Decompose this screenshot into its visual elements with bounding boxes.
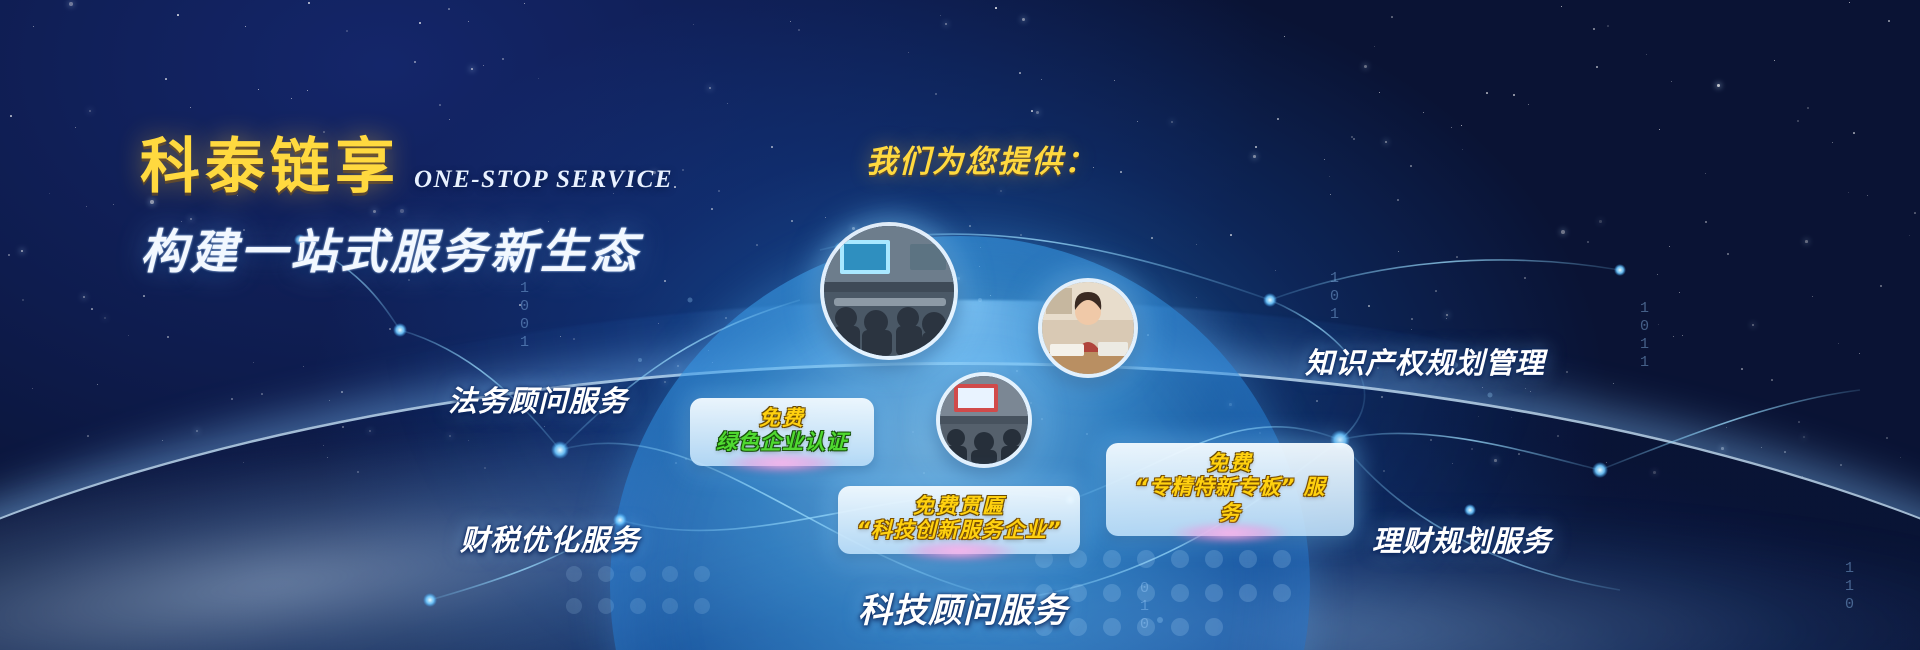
title-block: 科泰链享ONE-STOP SERVICE 构建一站式服务新生态	[140, 118, 673, 282]
photo-bubble-conference	[820, 222, 958, 360]
badge-green-enterprise[interactable]: 免费 绿色企业认证	[690, 398, 874, 466]
binary-column-5: 110	[1845, 560, 1855, 614]
badge-glow	[722, 452, 842, 474]
binary-column-1: 1001	[520, 280, 530, 352]
page-subtitle: 构建一站式服务新生态	[140, 213, 673, 282]
page-title: 科泰链享	[140, 118, 400, 205]
badge-tech-innovation-line1: 免费贯匾	[856, 494, 1062, 518]
binary-column-3: 1011	[1640, 300, 1650, 372]
badge-specialized-new-line2: “专精特新专板” 服务	[1124, 475, 1336, 525]
badge-specialized-new-line1: 免费	[1124, 451, 1336, 475]
binary-column-4: 010	[1140, 580, 1150, 634]
service-label-legal-advisory[interactable]: 法务顾问服务	[448, 378, 628, 420]
service-label-ip-planning[interactable]: 知识产权规划管理	[1305, 340, 1545, 382]
service-label-tech-advisory[interactable]: 科技顾问服务	[858, 583, 1068, 632]
provide-heading: 我们为您提供：	[866, 136, 1097, 181]
photo-bubble-meeting	[936, 372, 1032, 468]
badge-green-enterprise-line1: 免费	[708, 406, 856, 430]
badge-tech-innovation[interactable]: 免费贯匾 “科技创新服务企业”	[838, 486, 1080, 554]
promo-banner: 1001 101 1011 010 110 科泰链享ONE-STOP SERVI…	[0, 0, 1920, 650]
service-label-tax-optimization[interactable]: 财税优化服务	[460, 517, 640, 559]
badge-specialized-new[interactable]: 免费 “专精特新专板” 服务	[1106, 443, 1354, 536]
badge-glow	[899, 540, 1019, 562]
badge-glow	[1170, 522, 1290, 544]
page-title-english: ONE-STOP SERVICE	[414, 166, 673, 194]
photo-bubble-woman-desk	[1038, 278, 1138, 378]
service-label-wealth-planning[interactable]: 理财规划服务	[1372, 518, 1552, 560]
binary-column-2: 101	[1330, 270, 1340, 324]
